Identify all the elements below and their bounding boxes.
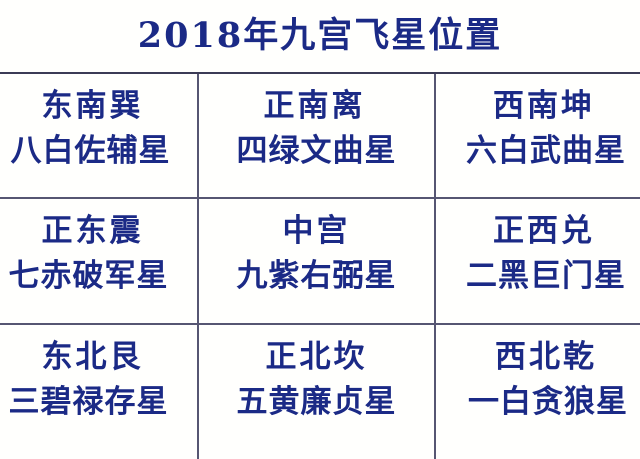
nine-palace-grid: 东南巽 八白佐辅星 正南离 四绿文曲星 西南坤 六白武曲星 正东震 七赤破军星 …	[0, 72, 640, 457]
grid-cell-southwest: 西南坤 六白武曲星	[436, 74, 640, 199]
page-title: 2018年九宫飞星位置	[138, 18, 502, 53]
cell-star-label: 三碧禄存星	[9, 380, 169, 425]
cell-direction-label: 东北艮	[42, 335, 144, 380]
cell-direction-label: 正南离	[264, 84, 366, 129]
cell-direction-label: 正北坎	[266, 335, 368, 380]
grid-cell-northeast: 东北艮 三碧禄存星	[0, 325, 199, 459]
cell-star-label: 五黄廉贞星	[237, 380, 397, 425]
grid-cell-east: 正东震 七赤破军星	[0, 199, 199, 325]
grid-cell-west: 正西兑 二黑巨门星	[436, 199, 640, 325]
cell-star-label: 二黑巨门星	[466, 254, 626, 299]
cell-direction-label: 西北乾	[495, 335, 597, 380]
cell-direction-label: 正西兑	[493, 209, 595, 254]
cell-direction-label: 正东震	[42, 209, 144, 254]
cell-direction-label: 东南巽	[42, 84, 144, 129]
grid-cell-southeast: 东南巽 八白佐辅星	[0, 74, 199, 199]
grid-cell-center: 中宫 九紫右弼星	[199, 199, 436, 325]
cell-star-label: 一白贪狼星	[468, 380, 628, 425]
cell-direction-label: 西南坤	[493, 84, 595, 129]
grid-cell-northwest: 西北乾 一白贪狼星	[436, 325, 640, 459]
cell-star-label: 六白武曲星	[466, 129, 626, 174]
flying-star-chart-page: 2018年九宫飞星位置 东南巽 八白佐辅星 正南离 四绿文曲星 西南坤 六白武曲…	[0, 0, 640, 457]
cell-star-label: 七赤破军星	[9, 254, 169, 299]
grid-cell-south: 正南离 四绿文曲星	[199, 74, 436, 199]
chart-title-band: 2018年九宫飞星位置	[0, 0, 640, 72]
cell-star-label: 八白佐辅星	[11, 129, 171, 174]
cell-direction-label: 中宫	[283, 209, 351, 254]
cell-star-label: 四绿文曲星	[237, 129, 397, 174]
grid-cell-north: 正北坎 五黄廉贞星	[199, 325, 436, 459]
cell-star-label: 九紫右弼星	[237, 254, 397, 299]
